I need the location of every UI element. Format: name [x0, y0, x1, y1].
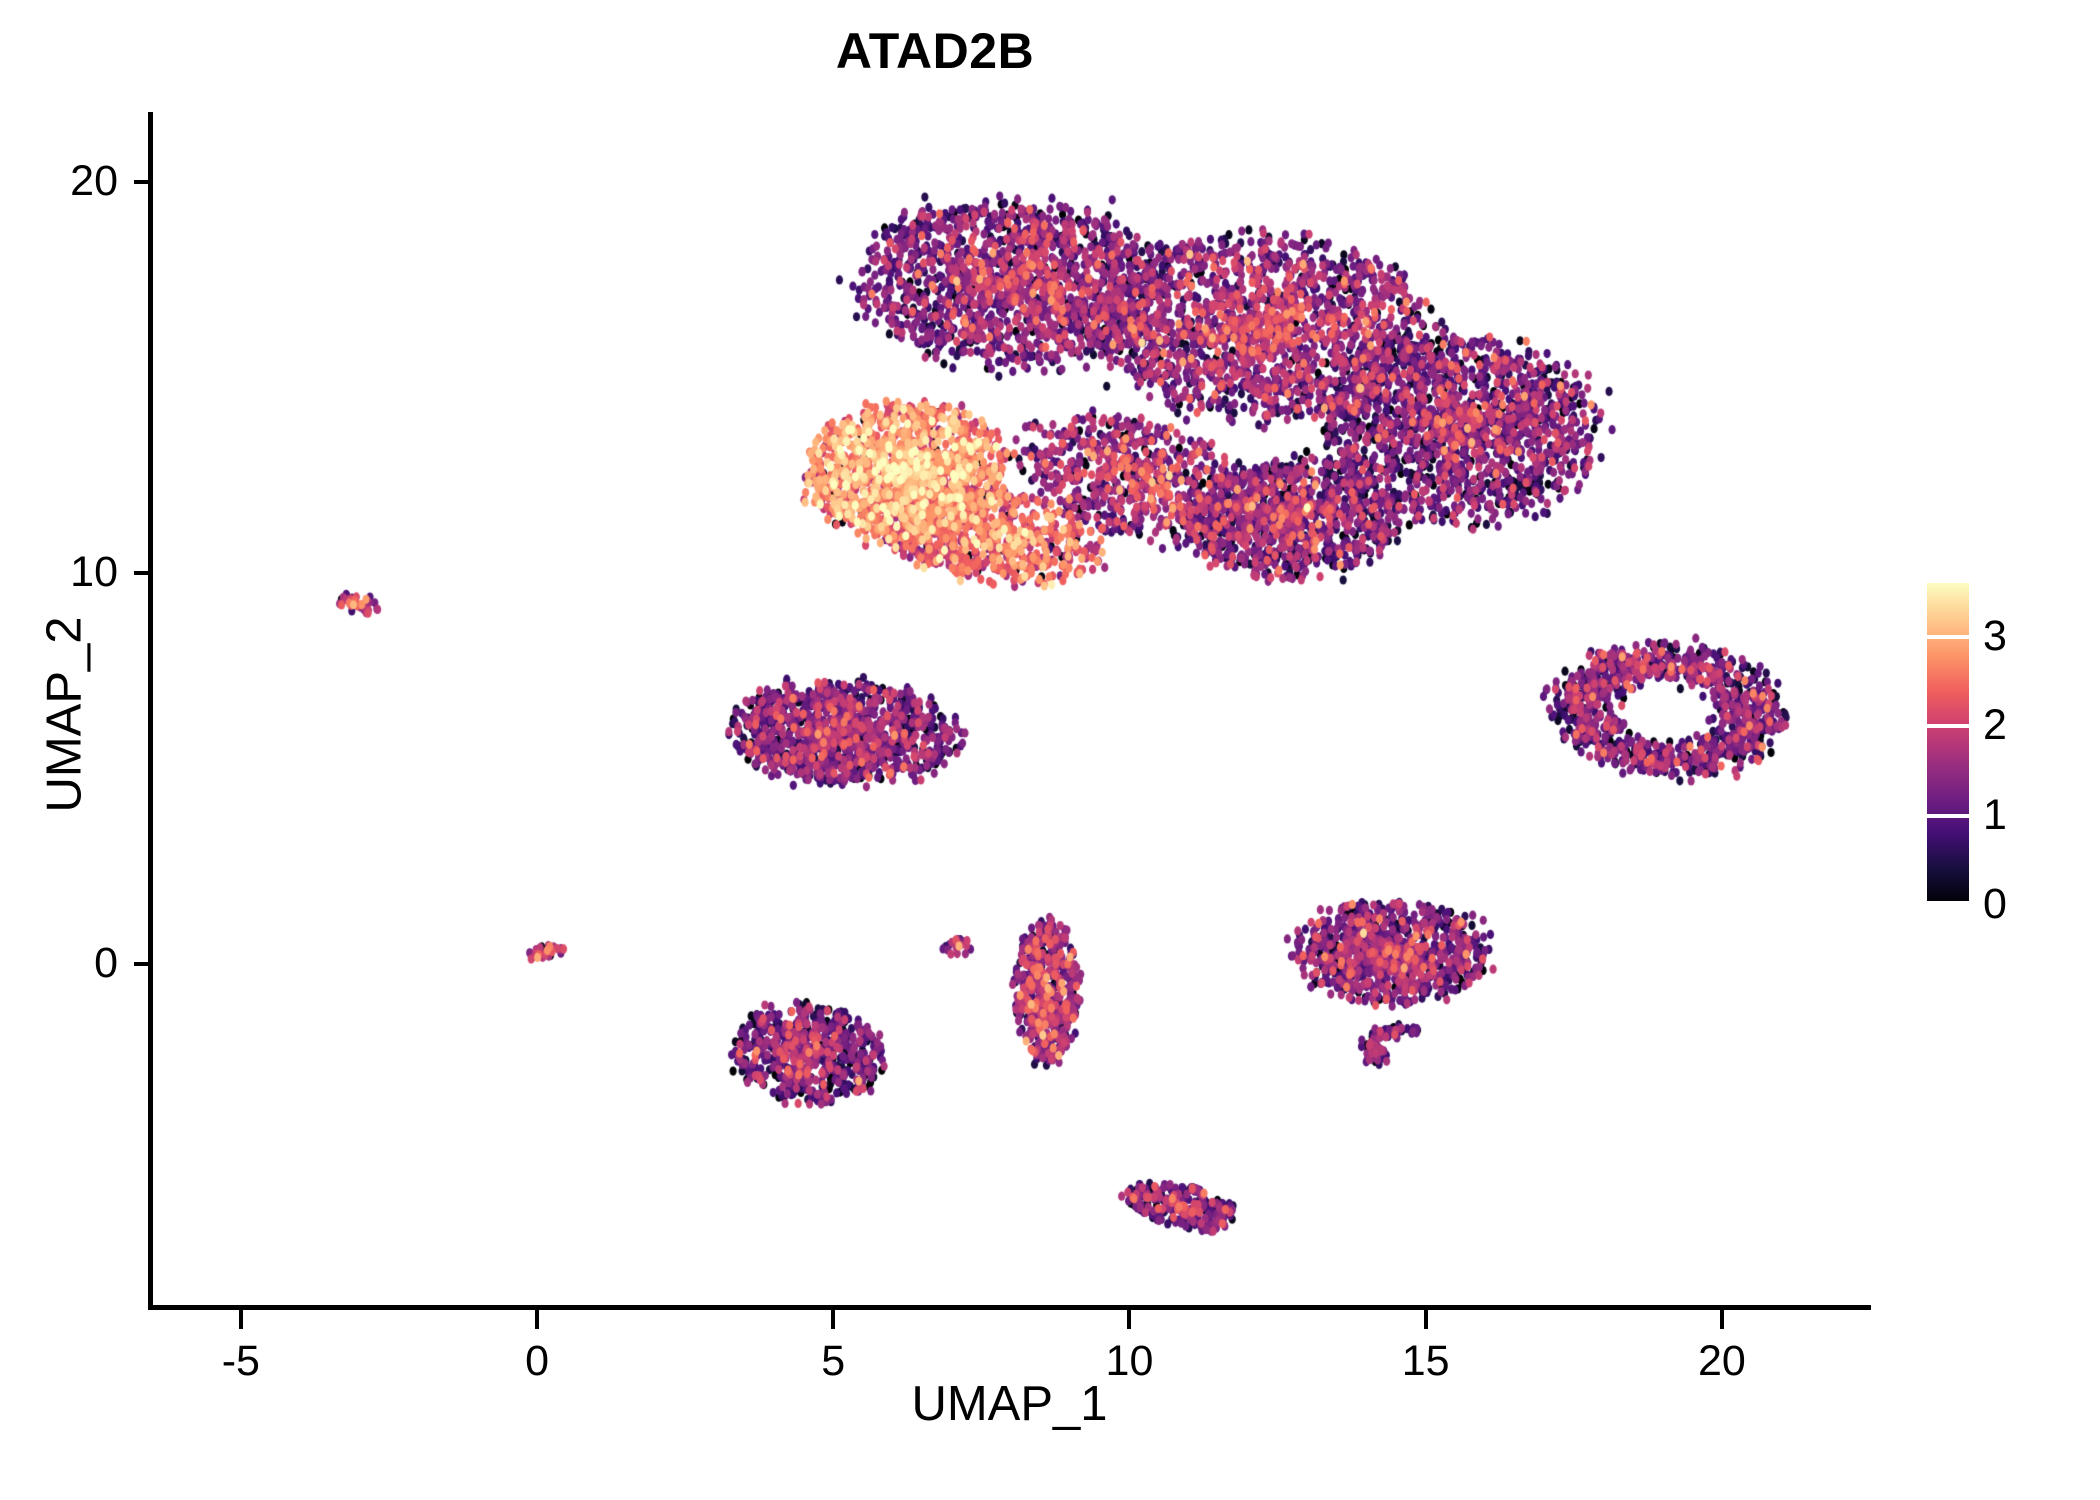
x-axis-line [148, 1305, 1871, 1310]
x-tick-mark [239, 1310, 243, 1329]
legend-tick-label: 0 [1983, 883, 2007, 926]
y-tick-label: 20 [0, 160, 118, 203]
legend-tick-mark [1927, 901, 1969, 905]
x-tick-mark [1424, 1310, 1428, 1329]
x-tick-label: -5 [141, 1340, 341, 1383]
x-axis-title: UMAP_1 [148, 1380, 1871, 1429]
y-axis-line [148, 112, 153, 1310]
legend-tick-mark [1927, 724, 1969, 728]
legend-colorbar [1927, 583, 1969, 905]
scatter-canvas [152, 112, 1870, 1308]
x-tick-mark [831, 1310, 835, 1329]
legend-tick-label: 1 [1983, 794, 2007, 837]
plot-panel [152, 112, 1870, 1308]
x-tick-mark [1127, 1310, 1131, 1329]
color-legend: 0123 [1927, 583, 2077, 905]
legend-tick-mark [1927, 814, 1969, 818]
legend-tick-label: 2 [1983, 704, 2007, 747]
legend-tick-label: 3 [1983, 615, 2007, 658]
y-tick-mark [134, 571, 152, 575]
umap-feature-plot: ATAD2B 01020 -505101520 UMAP_1 UMAP_2 01… [0, 0, 2100, 1500]
x-tick-label: 5 [733, 1340, 933, 1383]
x-tick-label: 0 [437, 1340, 637, 1383]
x-tick-mark [535, 1310, 539, 1329]
x-tick-mark [1720, 1310, 1724, 1329]
page-title: ATAD2B [0, 26, 1870, 76]
legend-tick-mark [1927, 635, 1969, 639]
y-tick-mark [134, 962, 152, 966]
x-tick-label: 20 [1622, 1340, 1822, 1383]
y-tick-mark [134, 180, 152, 184]
x-tick-label: 15 [1326, 1340, 1526, 1383]
y-axis-title: UMAP_2 [41, 365, 90, 1065]
